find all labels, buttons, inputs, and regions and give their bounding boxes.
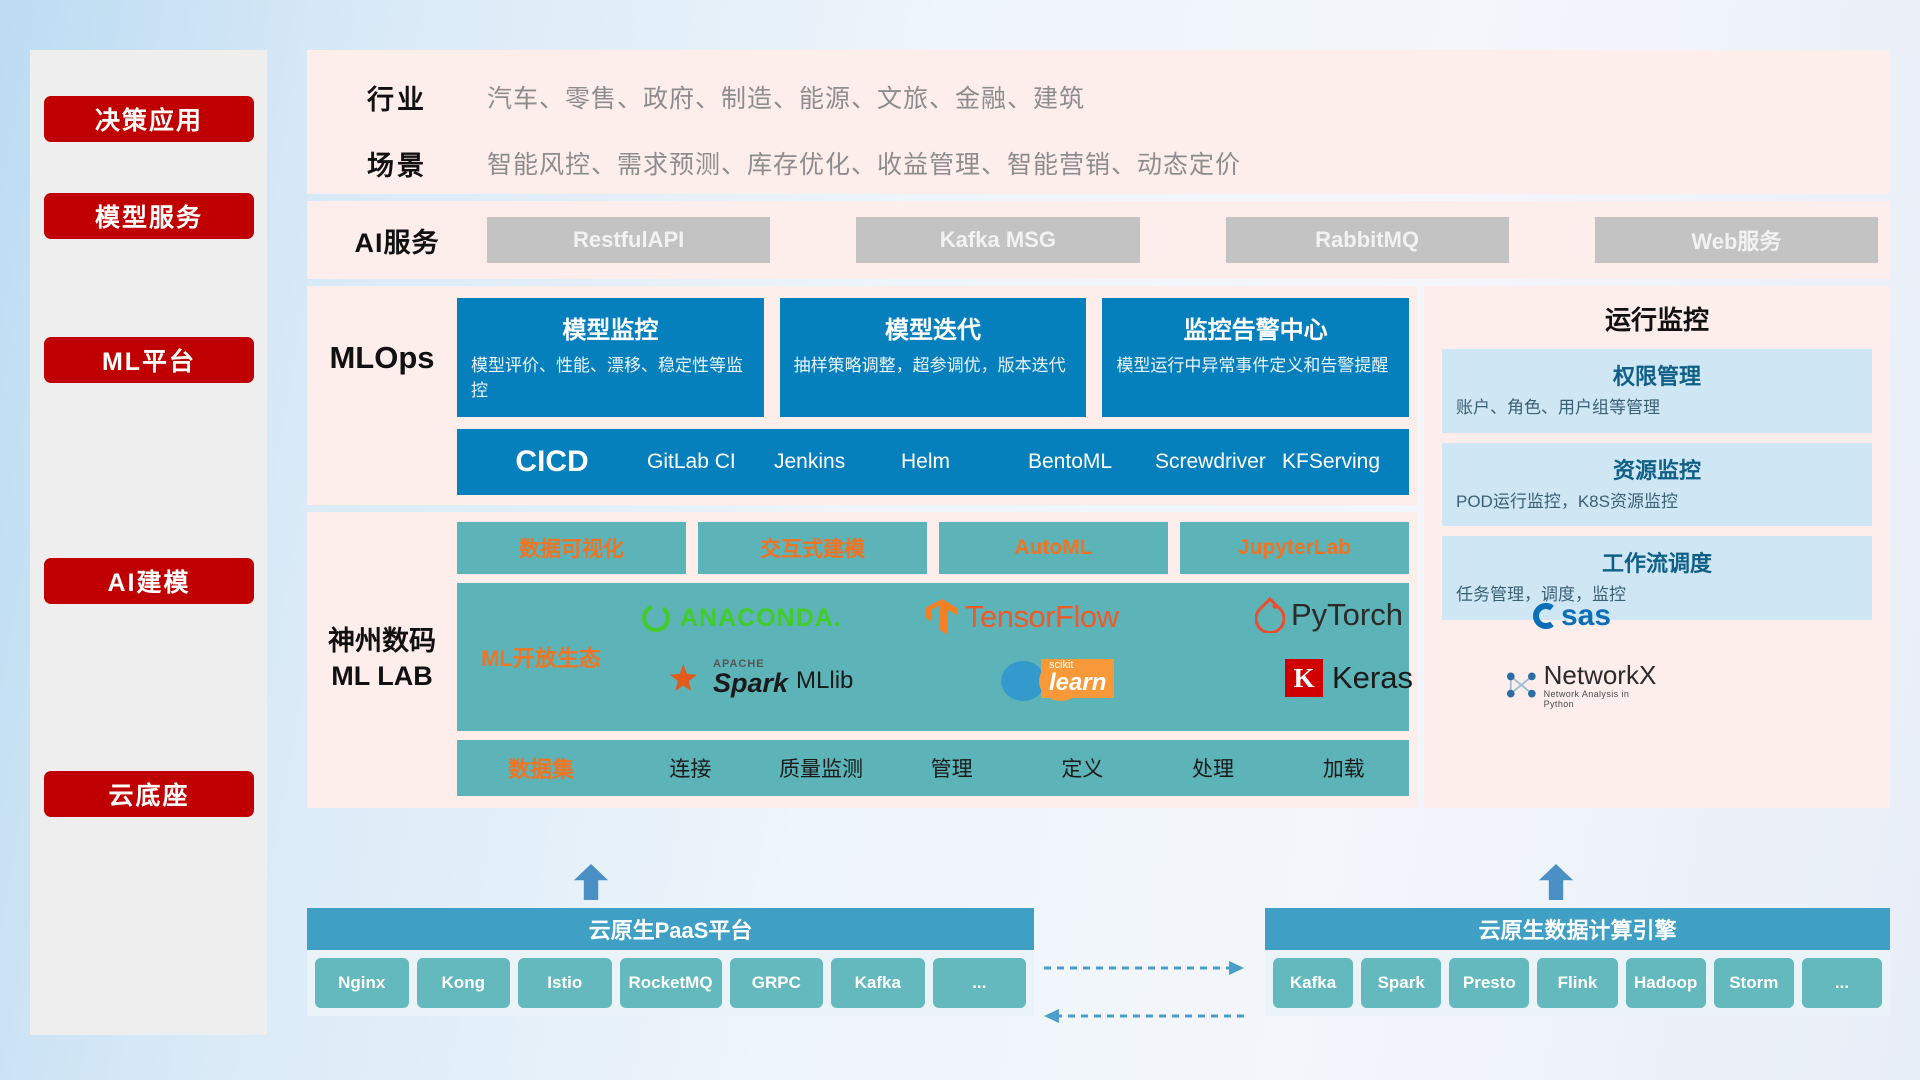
tab-automl[interactable]: AutoML [939,522,1168,574]
tab-interactive-modeling[interactable]: 交互式建模 [698,522,927,574]
keras-logo: K Keras [1285,659,1413,697]
cicd-item-list: GitLab CI Jenkins Helm BentoML Screwdriv… [647,450,1409,474]
networkx-logo: NetworkX Network Analysis in Python [1505,661,1658,709]
dataset-item-process[interactable]: 处理 [1148,753,1279,783]
ml-ecosystem-logos: ANACONDA. TensorFlow [625,583,1409,731]
card-desc: POD运行监控，K8S资源监控 [1456,490,1858,515]
keras-icon: K [1285,659,1323,697]
service-chip-kafka-msg[interactable]: Kafka MSG [856,217,1139,263]
dataset-item-manage[interactable]: 管理 [886,753,1017,783]
monitor-card-resources[interactable]: 资源监控 POD运行监控，K8S资源监控 [1442,443,1872,527]
stage-pill-mlplatform[interactable]: ML平台 [44,337,254,383]
stage-pill-decision[interactable]: 决策应用 [44,96,254,142]
mlops-card-model-iteration[interactable]: 模型迭代 抽样策略调整，超参调优，版本迭代 [780,298,1087,417]
mlops-card-alert-center[interactable]: 监控告警中心 模型运行中异常事件定义和告警提醒 [1102,298,1409,417]
cloud-chip-rocketmq[interactable]: RocketMQ [620,958,722,1008]
cloud-chip-flink[interactable]: Flink [1537,958,1617,1008]
scikit-learn-logo: scikit learn [995,657,1115,703]
cicd-item-gitlab-ci[interactable]: GitLab CI [647,450,774,474]
pytorch-logo: PyTorch [1255,597,1403,633]
card-title: 模型迭代 [794,310,1073,345]
service-chip-web[interactable]: Web服务 [1595,217,1878,263]
tab-data-visualization[interactable]: 数据可视化 [457,522,686,574]
dataset-item-connect[interactable]: 连接 [625,753,756,783]
industry-scenario-band: 行业 汽车、零售、政府、制造、能源、文旅、金融、建筑 场景 智能风控、需求预测、… [307,50,1890,194]
tensorflow-logo: TensorFlow [925,597,1119,637]
runtime-monitoring-column: 运行监控 权限管理 账户、角色、用户组等管理 资源监控 POD运行监控，K8S资… [1424,286,1890,808]
sas-icon [1530,601,1558,631]
cloud-compute-group: 云原生数据计算引擎 Kafka Spark Presto Flink Hadoo… [1265,908,1890,1016]
card-desc: 任务管理，调度，监控 [1456,583,1858,608]
up-arrow-paas-icon [572,864,610,900]
ml-lab-line1: 神州数码 [328,624,436,659]
networkx-icon [1505,668,1538,702]
runtime-monitoring-title: 运行监控 [1442,300,1872,337]
cloud-chip-kafka-compute[interactable]: Kafka [1273,958,1353,1008]
scenario-label: 场景 [307,144,487,183]
stage-pill-cloudbase[interactable]: 云底座 [44,771,254,817]
cloud-chip-nginx[interactable]: Nginx [315,958,409,1008]
card-title: 监控告警中心 [1116,310,1395,345]
mlops-card-model-monitoring[interactable]: 模型监控 模型评价、性能、漂移、稳定性等监控 [457,298,764,417]
cloud-chip-hadoop[interactable]: Hadoop [1626,958,1706,1008]
modeling-tool-tabs: 数据可视化 交互式建模 AutoML JupyterLab [457,522,1409,574]
ml-lab-label: 神州数码 ML LAB [307,522,457,796]
cicd-item-helm[interactable]: Helm [901,450,1028,474]
anaconda-icon [639,601,673,635]
industry-values: 汽车、零售、政府、制造、能源、文旅、金融、建筑 [487,79,1085,115]
cloud-chip-presto[interactable]: Presto [1449,958,1529,1008]
card-desc: 模型评价、性能、漂移、稳定性等监控 [471,354,750,403]
cloud-chip-kafka[interactable]: Kafka [831,958,925,1008]
dataset-item-load[interactable]: 加载 [1278,753,1409,783]
dataset-item-define[interactable]: 定义 [1017,753,1148,783]
card-title: 权限管理 [1456,359,1858,391]
scenario-values: 智能风控、需求预测、库存优化、收益管理、智能营销、动态定价 [487,145,1241,181]
spark-mllib-logo: APACHE Spark MLlib [665,659,853,697]
ai-service-chip-list: RestfulAPI Kafka MSG RabbitMQ Web服务 [487,217,1890,263]
monitor-card-workflow[interactable]: 工作流调度 任务管理，调度，监控 [1442,536,1872,620]
stage-pill-modelserv[interactable]: 模型服务 [44,193,254,239]
cloud-paas-title: 云原生PaaS平台 [307,908,1034,950]
cicd-item-bentoml[interactable]: BentoML [1028,450,1155,474]
cicd-title: CICD [457,445,647,479]
cloud-chip-storm[interactable]: Storm [1714,958,1794,1008]
stage-pill-aimodeling[interactable]: AI建模 [44,558,254,604]
cloud-base-zone: 云原生PaaS平台 Nginx Kong Istio RocketMQ GRPC… [307,880,1890,1035]
industry-label: 行业 [307,78,487,117]
dataset-item-quality[interactable]: 质量监测 [756,753,887,783]
spark-star-icon [665,663,705,697]
cloud-compute-title: 云原生数据计算引擎 [1265,908,1890,950]
pytorch-wordmark: PyTorch [1291,597,1403,633]
platform-and-monitoring: MLOps 模型监控 模型评价、性能、漂移、稳定性等监控 模型迭代 抽样策略调整… [307,286,1890,808]
bidirectional-dashed-connector [1034,958,1264,1038]
dataset-row: 数据集 连接 质量监测 管理 定义 处理 加载 [457,740,1409,796]
anaconda-logo: ANACONDA. [639,601,842,635]
card-desc: 模型运行中异常事件定义和告警提醒 [1116,354,1395,379]
ml-ecosystem-label: ML开放生态 [457,641,625,673]
cloud-paas-chips: Nginx Kong Istio RocketMQ GRPC Kafka ... [307,950,1034,1016]
mlops-label: MLOps [307,298,457,417]
cicd-item-screwdriver[interactable]: Screwdriver [1155,450,1282,474]
cloud-chip-more-compute[interactable]: ... [1802,958,1882,1008]
cloud-chip-more[interactable]: ... [933,958,1027,1008]
industry-row: 行业 汽车、零售、政府、制造、能源、文旅、金融、建筑 [307,72,1890,122]
networkx-tagline: Network Analysis in Python [1544,690,1658,710]
anaconda-wordmark: ANACONDA. [680,604,842,633]
architecture-main: 行业 汽车、零售、政府、制造、能源、文旅、金融、建筑 场景 智能风控、需求预测、… [307,50,1890,808]
card-title: 模型监控 [471,310,750,345]
pytorch-icon [1255,597,1285,633]
monitor-card-permissions[interactable]: 权限管理 账户、角色、用户组等管理 [1442,349,1872,433]
mlops-band: MLOps 模型监控 模型评价、性能、漂移、稳定性等监控 模型迭代 抽样策略调整… [307,286,1417,505]
sas-logo: sas [1530,599,1611,633]
card-desc: 抽样策略调整，超参调优，版本迭代 [794,354,1073,379]
networkx-wordmark: NetworkX [1544,661,1658,690]
cloud-chip-grpc[interactable]: GRPC [730,958,824,1008]
card-desc: 账户、角色、用户组等管理 [1456,396,1858,421]
dataset-item-list: 连接 质量监测 管理 定义 处理 加载 [625,753,1409,783]
cloud-chip-kong[interactable]: Kong [417,958,511,1008]
sas-wordmark: sas [1561,599,1611,633]
ai-service-band: AI服务 RestfulAPI Kafka MSG RabbitMQ Web服务 [307,201,1890,279]
cloud-chip-spark[interactable]: Spark [1361,958,1441,1008]
stage-rail: 决策应用 模型服务 ML平台 AI建模 云底座 [30,50,267,1035]
card-title: 资源监控 [1456,453,1858,485]
cloud-paas-group: 云原生PaaS平台 Nginx Kong Istio RocketMQ GRPC… [307,908,1034,1016]
scenario-row: 场景 智能风控、需求预测、库存优化、收益管理、智能营销、动态定价 [307,138,1890,188]
cicd-item-kfserving[interactable]: KFServing [1282,450,1409,474]
dataset-label: 数据集 [457,752,625,784]
keras-wordmark: Keras [1332,660,1413,696]
service-chip-restfulapi[interactable]: RestfulAPI [487,217,770,263]
ml-ecosystem-row: ML开放生态 ANACONDA. [457,583,1409,731]
service-chip-rabbitmq[interactable]: RabbitMQ [1226,217,1509,263]
mllib-wordmark: MLlib [796,667,853,697]
cicd-item-jenkins[interactable]: Jenkins [774,450,901,474]
tensorflow-icon [925,597,959,637]
cloud-chip-istio[interactable]: Istio [518,958,612,1008]
up-arrow-compute-icon [1537,864,1575,900]
ml-lab-line2: ML LAB [331,659,433,694]
tab-jupyterlab[interactable]: JupyterLab [1180,522,1409,574]
mlops-card-list: 模型监控 模型评价、性能、漂移、稳定性等监控 模型迭代 抽样策略调整，超参调优，… [457,298,1417,417]
tensorflow-wordmark: TensorFlow [965,599,1119,635]
ai-modeling-band: 神州数码 ML LAB 数据可视化 交互式建模 AutoML JupyterLa… [307,512,1417,808]
cloud-compute-chips: Kafka Spark Presto Flink Hadoop Storm ..… [1265,950,1890,1016]
card-title: 工作流调度 [1456,546,1858,578]
cicd-strip: CICD GitLab CI Jenkins Helm BentoML Scre… [457,429,1409,495]
ai-service-label: AI服务 [307,221,487,260]
